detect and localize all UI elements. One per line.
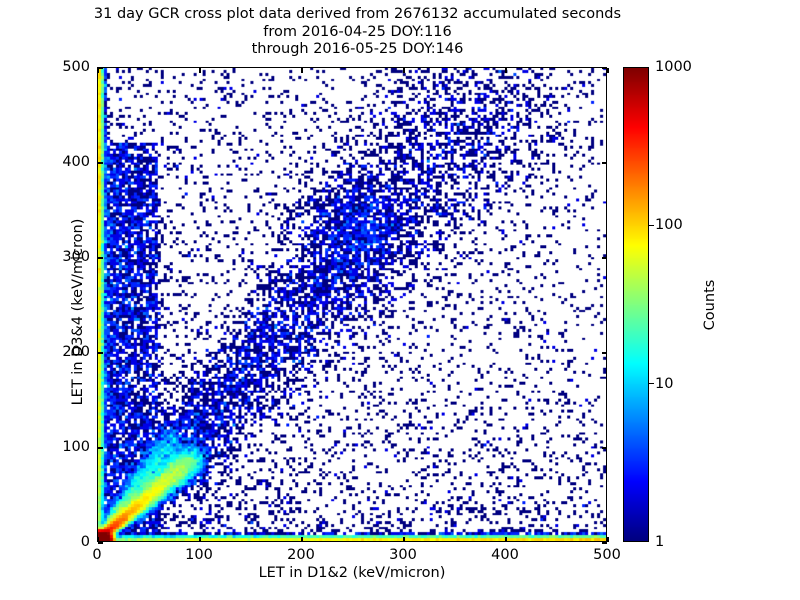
colorbar-tick [649, 225, 654, 226]
title-line-3: through 2016-05-25 DOY:146 [0, 41, 715, 59]
y-tick-right [602, 542, 607, 543]
colorbar-tick-label: 1000 [655, 59, 692, 75]
x-tick-label: 100 [185, 547, 213, 563]
y-tick-right [602, 352, 607, 353]
plot-axes [97, 67, 607, 542]
x-tick [97, 537, 98, 542]
title-line-2: from 2016-04-25 DOY:116 [0, 24, 715, 42]
x-axis-title: LET in D1&2 (keV/micron) [97, 565, 607, 581]
x-tick-label: 200 [287, 547, 315, 563]
colorbar-title-wrap: Counts [700, 67, 720, 542]
y-axis-title: LET in D3&4 (keV/micron) [70, 112, 86, 512]
colorbar-title: Counts [702, 105, 718, 505]
x-tick-top [301, 68, 302, 73]
page-title: 31 day GCR cross plot data derived from … [0, 6, 715, 59]
y-tick-right [602, 447, 607, 448]
figure-root: 31 day GCR cross plot data derived from … [0, 0, 800, 600]
colorbar-tick-label: 1 [655, 534, 664, 550]
y-tick [98, 67, 103, 68]
y-axis-title-wrap: LET in D3&4 (keV/micron) [28, 67, 48, 542]
y-tick [98, 162, 103, 163]
y-tick-right [602, 162, 607, 163]
y-tick-right [602, 257, 607, 258]
x-tick [199, 537, 200, 542]
x-tick-top [607, 68, 608, 73]
scatter-heatmap-canvas [98, 68, 606, 541]
title-line-1: 31 day GCR cross plot data derived from … [0, 6, 715, 24]
x-tick-label: 300 [389, 547, 417, 563]
y-tick [98, 447, 103, 448]
x-tick-top [199, 68, 200, 73]
y-tick [98, 542, 103, 543]
x-tick [301, 537, 302, 542]
colorbar-wrap [623, 67, 649, 542]
colorbar-tick-label: 10 [655, 376, 673, 392]
x-tick-label: 400 [491, 547, 519, 563]
colorbar-tick [649, 383, 654, 384]
x-tick [607, 537, 608, 542]
colorbar-tick-label: 100 [655, 217, 683, 233]
x-tick-label: 500 [593, 547, 621, 563]
x-tick [403, 537, 404, 542]
x-tick-top [403, 68, 404, 73]
colorbar-gradient [623, 67, 649, 542]
y-tick [98, 257, 103, 258]
x-tick-top [505, 68, 506, 73]
y-tick-right [602, 67, 607, 68]
x-tick-label: 0 [92, 547, 101, 563]
y-tick [98, 352, 103, 353]
x-tick [505, 537, 506, 542]
